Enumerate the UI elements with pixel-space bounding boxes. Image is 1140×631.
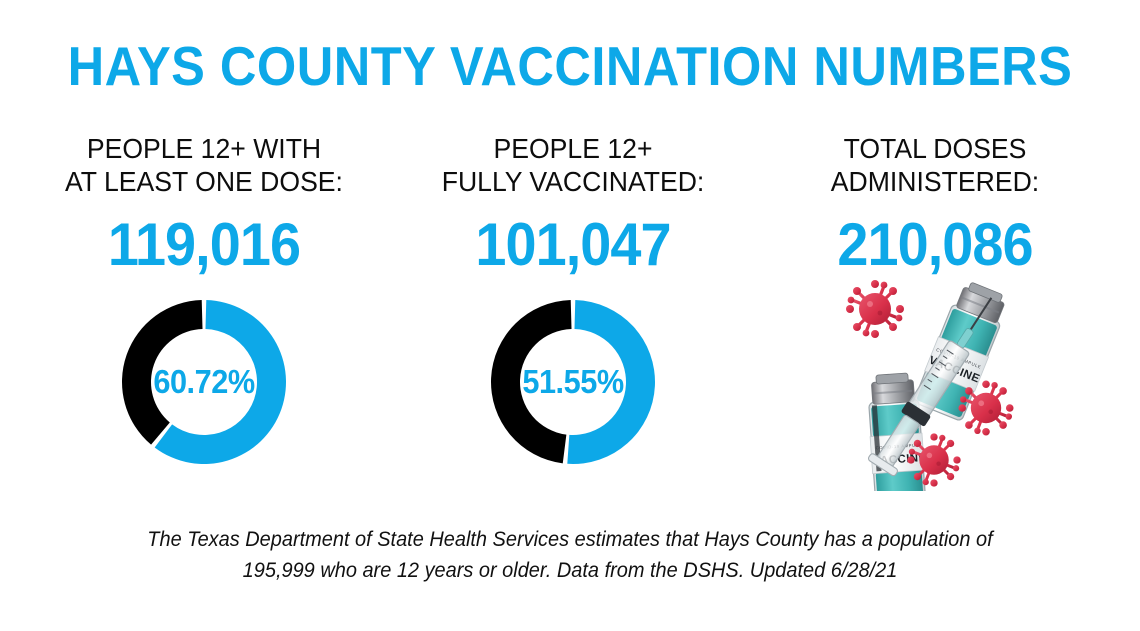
virus-core-highlight [867,301,873,307]
virus-particle [907,433,960,486]
virus-core-highlight [978,400,984,406]
stat-heading-line1: PEOPLE 12+ WITH [87,133,321,164]
donut-center-percent: 51.55% [489,292,656,472]
virus-core-shade [878,311,883,316]
virus-core-highlight [927,453,933,459]
stat-number: 210,086 [782,213,1089,277]
stat-heading-line1: PEOPLE 12+ [494,133,653,164]
stat-heading: PEOPLE 12+ FULLY VACCINATED: [416,132,730,198]
virus-core [859,293,891,325]
vaccine-illustration-svg: COVID-19 AMPULE VACCINE COVID-19 AMPULE … [828,276,1063,491]
virus-particle [958,380,1013,435]
virus-core [971,393,1001,423]
stat-column-one-dose: PEOPLE 12+ WITH AT LEAST ONE DOSE: 119,0… [39,132,369,277]
donut-center-percent: 60.72% [120,292,287,472]
stat-number: 101,047 [420,213,727,277]
donut-chart-fully-vaccinated: 51.55% [483,292,663,472]
stat-heading-line2: AT LEAST ONE DOSE: [47,165,361,198]
virus-core [919,445,948,474]
stat-heading: PEOPLE 12+ WITH AT LEAST ONE DOSE: [47,132,361,198]
page-title: HAYS COUNTY VACCINATION NUMBERS [46,36,1095,96]
virus-core-shade [988,410,993,415]
stat-heading-line2: FULLY VACCINATED: [416,165,730,198]
footer-line1: The Texas Department of State Health Ser… [95,524,1045,555]
donut-chart-one-dose: 60.72% [114,292,294,472]
footer-line2: 195,999 who are 12 years or older. Data … [95,555,1045,586]
stat-heading-line2: ADMINISTERED: [778,165,1092,198]
vaccine-illustration: COVID-19 AMPULE VACCINE COVID-19 AMPULE … [828,276,1063,491]
virus-core-shade [936,461,940,465]
infographic-root: { "title": "HAYS COUNTY VACCINATION NUMB… [0,0,1140,631]
stat-heading-line1: TOTAL DOSES [844,133,1027,164]
stat-column-fully-vaccinated: PEOPLE 12+ FULLY VACCINATED: 101,047 [408,132,738,277]
virus-particle [846,280,904,338]
footer-note: The Texas Department of State Health Ser… [95,524,1045,586]
vial-cap-top [876,373,909,384]
stat-heading: TOTAL DOSES ADMINISTERED: [778,132,1092,198]
stat-number: 119,016 [51,213,358,277]
stat-column-total-doses: TOTAL DOSES ADMINISTERED: 210,086 [770,132,1100,277]
